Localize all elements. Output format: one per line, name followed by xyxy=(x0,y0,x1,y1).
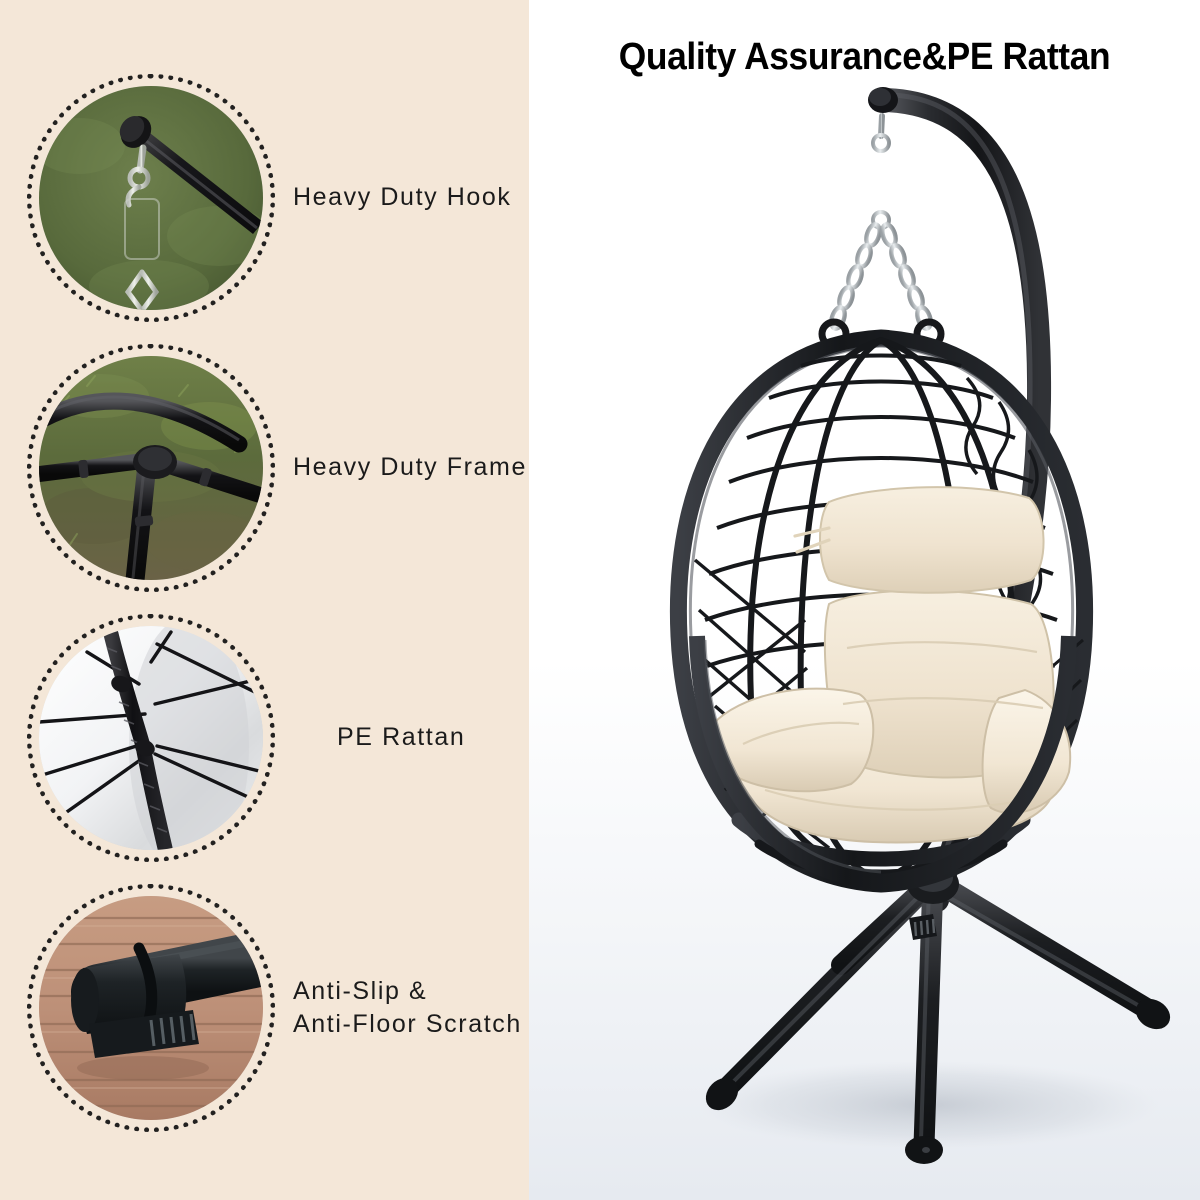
feature-label-anti-slip: Anti-Slip & Anti-Floor Scratch xyxy=(293,975,522,1042)
feature-item-heavy-duty-frame: Heavy Duty Frame xyxy=(0,333,529,603)
feature-photo-wrap-1 xyxy=(27,74,275,322)
feature-item-anti-slip: Anti-Slip & Anti-Floor Scratch xyxy=(0,873,529,1143)
feature-item-heavy-duty-hook: Heavy Duty Hook xyxy=(0,63,529,333)
page-title: Quality Assurance&PE Rattan xyxy=(552,36,1176,79)
product-infographic: Heavy Duty Hook xyxy=(0,0,1200,1200)
feature-label-pe-rattan: PE Rattan xyxy=(337,721,465,755)
dotted-ring-2 xyxy=(27,344,275,592)
features-panel: Heavy Duty Hook xyxy=(0,0,529,1200)
feature-item-pe-rattan: PE Rattan xyxy=(0,603,529,873)
dotted-ring-4 xyxy=(27,884,275,1132)
feature-photo-wrap-2 xyxy=(27,344,275,592)
feature-photo-wrap-4 xyxy=(27,884,275,1132)
dotted-ring-3 xyxy=(27,614,275,862)
dotted-ring-1 xyxy=(27,74,275,322)
hero-panel: Quality Assurance&PE Rattan xyxy=(529,0,1200,1200)
hanging-egg-chair-photo xyxy=(529,0,1200,1200)
feature-label-heavy-duty-hook: Heavy Duty Hook xyxy=(293,181,512,215)
feature-label-heavy-duty-frame: Heavy Duty Frame xyxy=(293,451,527,485)
feature-photo-wrap-3 xyxy=(27,614,275,862)
